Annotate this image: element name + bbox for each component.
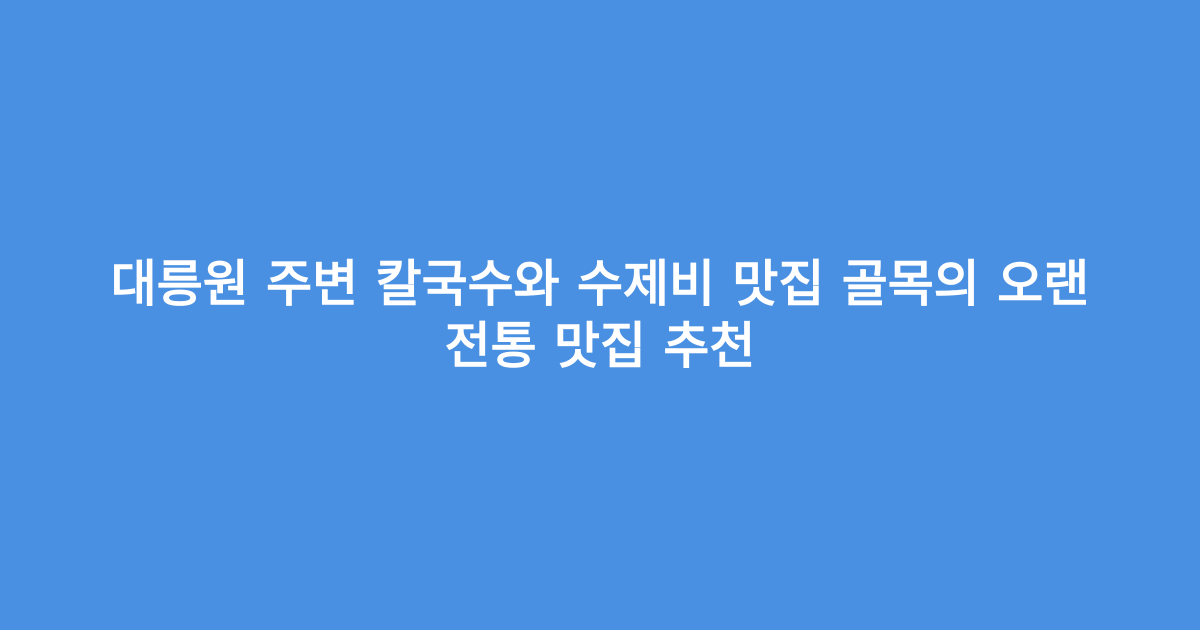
page-title: 대릉원 주변 칼국수와 수제비 맛집 골목의 오랜 전통 맛집 추천 [95, 253, 1105, 377]
headline-block: 대릉원 주변 칼국수와 수제비 맛집 골목의 오랜 전통 맛집 추천 [95, 253, 1105, 377]
share-card: 대릉원 주변 칼국수와 수제비 맛집 골목의 오랜 전통 맛집 추천 [0, 0, 1200, 630]
